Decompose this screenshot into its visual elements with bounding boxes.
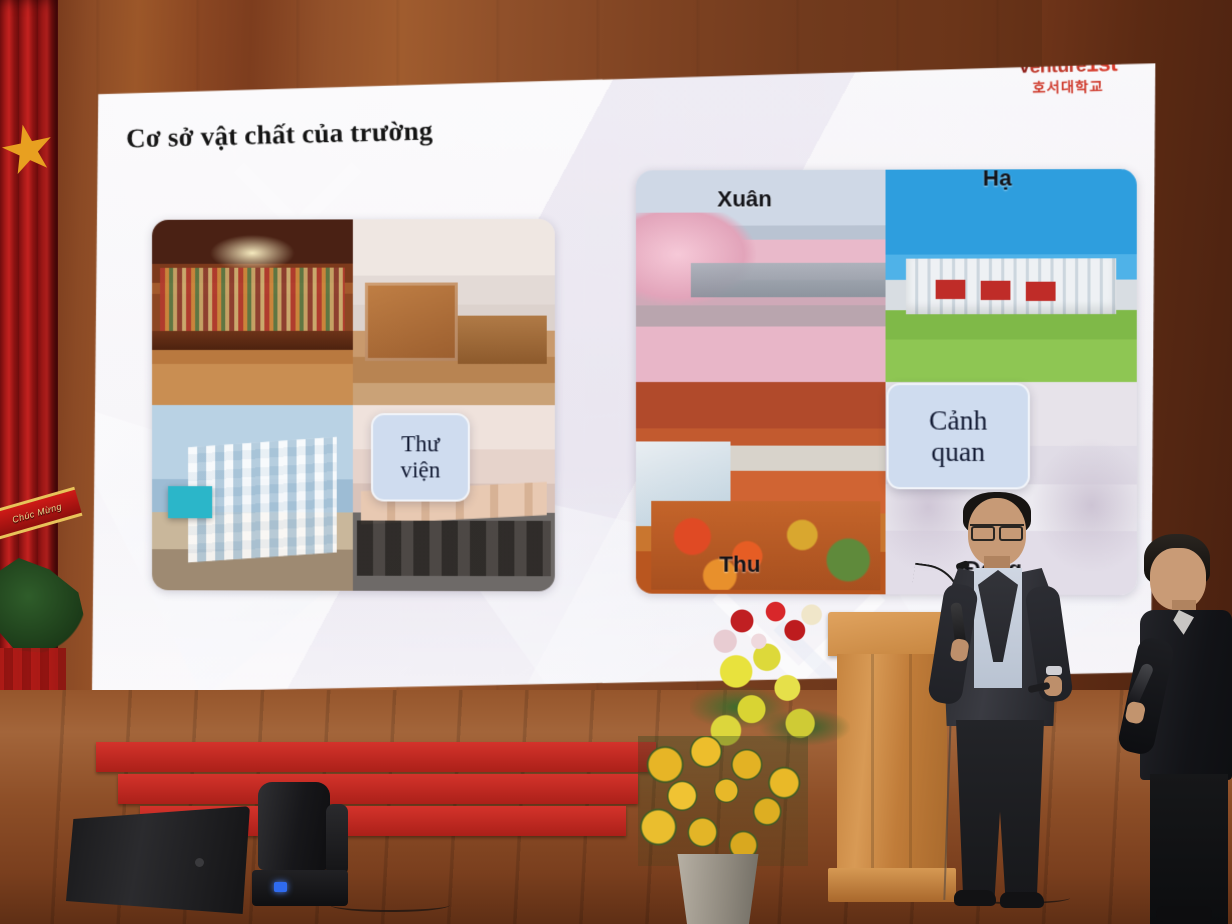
presenter-left-hand bbox=[950, 638, 970, 662]
callout-landscape: Cảnh quan bbox=[887, 383, 1030, 489]
season-label-spring: Xuân bbox=[717, 186, 772, 212]
moving-head-stage-light bbox=[252, 782, 348, 914]
bouquet-red-roses bbox=[706, 596, 826, 674]
photo-wooden-library-hall bbox=[152, 219, 353, 405]
chrysanthemum-pot bbox=[674, 854, 762, 924]
glasses-icon bbox=[970, 524, 1024, 535]
callout-landscape-line1: Cảnh bbox=[929, 406, 987, 437]
yellow-chrysanthemum-basket bbox=[638, 736, 808, 924]
interpreter-trousers bbox=[1150, 774, 1228, 924]
presenter-left-shoe bbox=[954, 890, 996, 906]
logo-korean-name: 호서대학교 bbox=[1005, 76, 1131, 99]
season-label-summer: Hạ bbox=[983, 165, 1012, 191]
callout-library: Thư viện bbox=[371, 413, 470, 502]
photo-summer-campus bbox=[886, 169, 1137, 382]
handheld-microphone-icon-2 bbox=[1126, 662, 1155, 707]
stage-light-head bbox=[258, 782, 330, 870]
photo-autumn-campus bbox=[636, 382, 886, 594]
stage-light-base bbox=[252, 870, 348, 906]
university-logo: Venture1st 호서대학교 bbox=[1005, 63, 1131, 115]
slide-title: Cơ sở vật chất của trường bbox=[126, 115, 433, 154]
presenter-right-shoe bbox=[1000, 892, 1044, 908]
season-label-autumn: Thu bbox=[719, 551, 760, 577]
interpreter-shoes bbox=[1156, 906, 1212, 922]
stage-light-yoke bbox=[326, 804, 348, 876]
auditorium-scene: Chúc Mừng Cơ sở vật chất của trường bbox=[0, 0, 1232, 924]
stand-foliage bbox=[0, 558, 86, 654]
logo-brand-suffix: 1st bbox=[1086, 63, 1118, 76]
wristwatch bbox=[1046, 666, 1062, 675]
interpreter-hand bbox=[1124, 700, 1146, 724]
library-photo-collage bbox=[152, 219, 555, 591]
stage-step-2 bbox=[118, 774, 638, 804]
interpreter-person bbox=[1128, 534, 1232, 924]
stage-step-1 bbox=[96, 742, 656, 772]
stage-monitor-speaker bbox=[66, 806, 250, 914]
stage-cable-1 bbox=[330, 898, 450, 912]
photo-library-atrium bbox=[353, 219, 555, 405]
callout-library-line2: viện bbox=[400, 457, 440, 483]
chrysanthemum-blooms bbox=[638, 736, 808, 866]
photo-library-building-exterior bbox=[152, 405, 353, 591]
presenter-person bbox=[934, 498, 1066, 924]
presenter-trousers bbox=[956, 720, 1044, 896]
stage-light-led-indicator bbox=[274, 882, 287, 892]
callout-library-line1: Thư bbox=[401, 431, 439, 457]
callout-landscape-line2: quan bbox=[931, 436, 985, 467]
